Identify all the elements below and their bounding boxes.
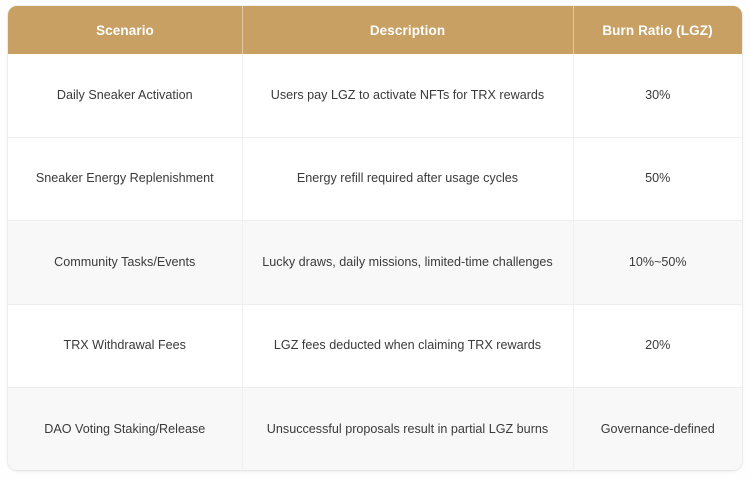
cell-description: LGZ fees deducted when claiming TRX rewa…: [242, 304, 573, 388]
cell-description: Unsuccessful proposals result in partial…: [242, 388, 573, 471]
cell-description: Energy refill required after usage cycle…: [242, 137, 573, 221]
table-body: Daily Sneaker Activation Users pay LGZ t…: [8, 54, 742, 470]
cell-scenario: Daily Sneaker Activation: [8, 54, 242, 137]
table-row: Sneaker Energy Replenishment Energy refi…: [8, 137, 742, 221]
column-header-scenario: Scenario: [8, 6, 242, 54]
cell-scenario: Community Tasks/Events: [8, 221, 242, 305]
column-header-description: Description: [242, 6, 573, 54]
page-container: Scenario Description Burn Ratio (LGZ) Da…: [0, 0, 750, 478]
burn-ratio-table: Scenario Description Burn Ratio (LGZ) Da…: [8, 6, 742, 470]
burn-ratio-table-card: Scenario Description Burn Ratio (LGZ) Da…: [8, 6, 742, 470]
cell-scenario: DAO Voting Staking/Release: [8, 388, 242, 471]
cell-scenario: Sneaker Energy Replenishment: [8, 137, 242, 221]
table-row: DAO Voting Staking/Release Unsuccessful …: [8, 388, 742, 471]
cell-description: Users pay LGZ to activate NFTs for TRX r…: [242, 54, 573, 137]
table-header-row: Scenario Description Burn Ratio (LGZ): [8, 6, 742, 54]
table-row: TRX Withdrawal Fees LGZ fees deducted wh…: [8, 304, 742, 388]
table-row: Daily Sneaker Activation Users pay LGZ t…: [8, 54, 742, 137]
column-header-burn-ratio: Burn Ratio (LGZ): [573, 6, 742, 54]
table-row: Community Tasks/Events Lucky draws, dail…: [8, 221, 742, 305]
cell-burn-ratio: Governance-defined: [573, 388, 742, 471]
cell-description: Lucky draws, daily missions, limited-tim…: [242, 221, 573, 305]
cell-scenario: TRX Withdrawal Fees: [8, 304, 242, 388]
cell-burn-ratio: 10%~50%: [573, 221, 742, 305]
cell-burn-ratio: 30%: [573, 54, 742, 137]
cell-burn-ratio: 20%: [573, 304, 742, 388]
table-header: Scenario Description Burn Ratio (LGZ): [8, 6, 742, 54]
cell-burn-ratio: 50%: [573, 137, 742, 221]
